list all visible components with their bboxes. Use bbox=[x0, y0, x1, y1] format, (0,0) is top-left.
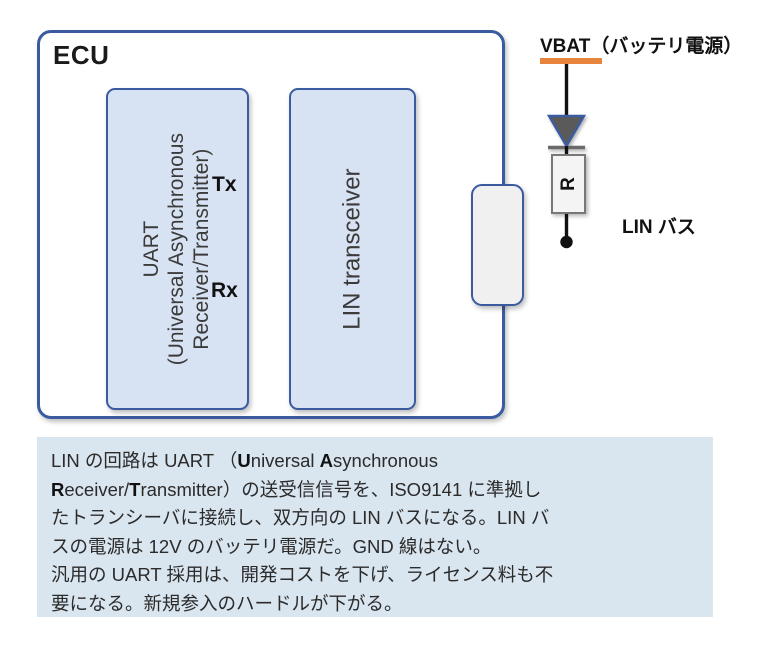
note-bold-t: T bbox=[129, 479, 140, 500]
resistor-label: R bbox=[557, 177, 579, 191]
vbat-note: （バッテリ電源） bbox=[590, 36, 742, 57]
note-bold-r: R bbox=[51, 479, 64, 500]
lin-transceiver-block[interactable]: LIN transceiver bbox=[289, 88, 416, 410]
note-bold-a: A bbox=[320, 450, 333, 471]
note-line-3: たトランシーバに接続し、双方向の LIN バスになる。LIN バ bbox=[51, 504, 701, 533]
vbat-name: VBAT bbox=[540, 36, 590, 57]
note-line-1e: synchronous bbox=[333, 450, 438, 471]
uart-line-3: Receiver/Transmitter) bbox=[190, 133, 215, 365]
note-bold-u: U bbox=[237, 450, 250, 471]
note-line-4: スの電源は 12V のバッテリ電源だ。GND 線はない。 bbox=[51, 533, 701, 562]
note-line-2b: eceiver/ bbox=[64, 479, 129, 500]
explanation-note: LIN の回路は UART （Universal Asynchronous Re… bbox=[37, 437, 713, 617]
uart-block[interactable]: UART (Universal Asynchronous Receiver/Tr… bbox=[106, 88, 249, 410]
vbat-label: VBAT（バッテリ電源） bbox=[540, 31, 742, 58]
uart-block-text: UART (Universal Asynchronous Receiver/Tr… bbox=[108, 90, 247, 408]
note-line-5: 汎用の UART 採用は、開発コストを下げ、ライセンス料も不 bbox=[51, 561, 701, 590]
note-line-2d: ransmitter）の送受信信号を、ISO9141 に準拠し bbox=[140, 479, 541, 500]
uart-line-1: UART bbox=[140, 133, 165, 365]
diode-symbol bbox=[548, 116, 585, 148]
resistor-label-wrap: R bbox=[553, 156, 584, 212]
tx-label: Tx bbox=[212, 173, 237, 197]
note-line-2: Receiver/Transmitter）の送受信信号を、ISO9141 に準拠… bbox=[51, 476, 701, 505]
resistor-symbol: R bbox=[551, 154, 586, 214]
rx-label: Rx bbox=[211, 279, 238, 303]
ecu-label: ECU bbox=[53, 40, 109, 71]
bus-junction-dot bbox=[560, 236, 572, 248]
note-line-1c: niversal bbox=[251, 450, 320, 471]
note-line-1a: LIN の回路は UART （ bbox=[51, 450, 237, 471]
note-line-6: 要になる。新規参入のハードルが下がる。 bbox=[51, 590, 701, 619]
lin-transceiver-label: LIN transceiver bbox=[338, 168, 366, 329]
note-line-1: LIN の回路は UART （Universal Asynchronous bbox=[51, 447, 701, 476]
bus-connector-block[interactable] bbox=[471, 184, 524, 306]
lin-bus-label: LIN バス bbox=[622, 212, 696, 239]
lin-transceiver-text: LIN transceiver bbox=[291, 90, 414, 408]
uart-line-2: (Universal Asynchronous bbox=[165, 133, 190, 365]
vbat-rail-bar bbox=[540, 58, 602, 64]
diagram-canvas: ECU UART (Universal Asynchronous Receive… bbox=[0, 0, 768, 649]
